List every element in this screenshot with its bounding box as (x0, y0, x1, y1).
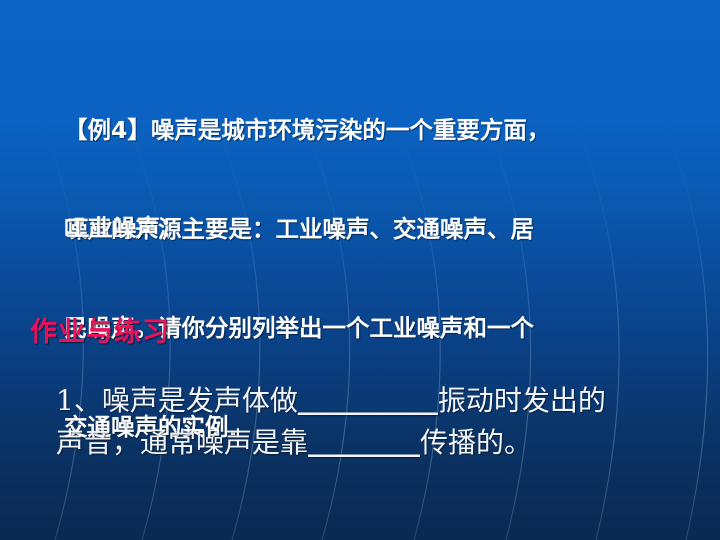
exercise-item-1-line-2: 声音，通常噪声是靠＿＿＿＿传播的。 (56, 422, 696, 464)
exercise-1-blank-1[interactable]: ＿＿＿＿＿ (298, 384, 438, 417)
exercise-2-text-before: 声音，通常噪声是靠 (56, 426, 308, 459)
slide-text-layer: 【例4】噪声是城市环境污染的一个重要方面， 噪声的来源主要是：工业噪声、交通噪声… (0, 0, 720, 540)
exercise-1-blank-2[interactable]: ＿＿＿＿ (308, 426, 420, 459)
section-title-homework-and-practice: 作业与练习 (30, 316, 170, 350)
example-line-1: 【例4】噪声是城市环境污染的一个重要方面， (64, 114, 664, 147)
exercise-list: 1、噪声是发声体做＿＿＿＿＿振动时发出的 声音，通常噪声是靠＿＿＿＿传播的。 (56, 380, 696, 464)
exercise-2-text-after: 传播的。 (420, 426, 532, 459)
exercise-1-text-before: 1、噪声是发声体做 (56, 384, 298, 417)
exercise-1-text-after: 振动时发出的 (438, 384, 606, 417)
slide-canvas: 【例4】噪声是城市环境污染的一个重要方面， 噪声的来源主要是：工业噪声、交通噪声… (0, 0, 720, 540)
industrial-noise-answer-label: 工业噪声： (66, 213, 184, 243)
exercise-item-1-line-1: 1、噪声是发声体做＿＿＿＿＿振动时发出的 (56, 380, 696, 422)
